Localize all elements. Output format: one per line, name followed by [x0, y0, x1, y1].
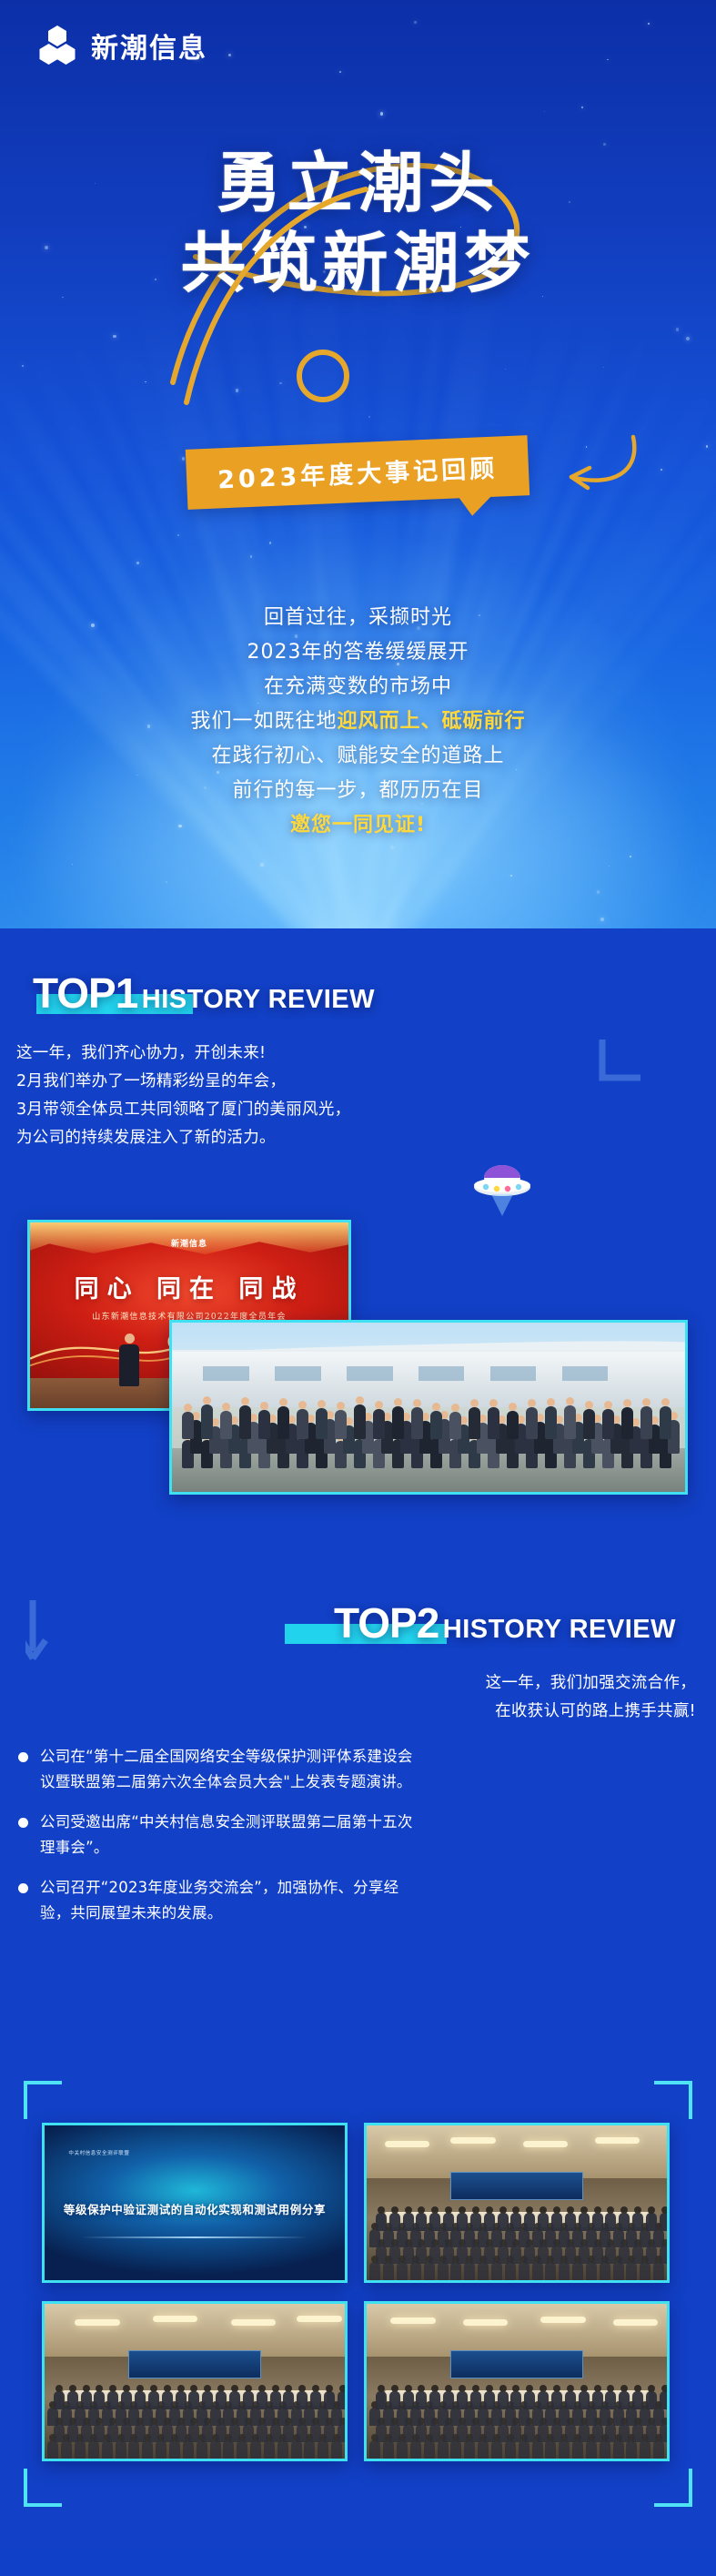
top2-heading: TOP2 HISTORY REVIEW: [334, 1598, 696, 1648]
group-crowd: [172, 1397, 685, 1468]
photo-conference-hall-3[interactable]: [364, 2301, 670, 2461]
hall-seats: [367, 2194, 667, 2280]
top1-para-line-3: 3月带领全体员工共同领略了厦门的美丽风光，: [16, 1096, 444, 1124]
intro-line-6: 前行的每一步，都历历在目: [0, 774, 716, 808]
top1-para-line-1: 这一年，我们齐心协力，开创未来!: [16, 1040, 444, 1068]
slide-title: 等级保护中验证测试的自动化实现和测试用例分享: [45, 2200, 345, 2217]
ufo-icon: [460, 1154, 544, 1218]
bracket-top-left: [24, 2081, 62, 2119]
poster-page: 新潮信息 勇立潮头 共筑新潮梦 2023年度大事记回顾 回首过往，: [0, 0, 716, 2576]
brand-name: 新潮信息: [91, 25, 207, 66]
list-item: 公司召开“2023年度业务交流会”，加强协作、分享经验，共同展望未来的发展。: [16, 1875, 417, 1926]
top1-para-line-2: 2月我们举办了一场精彩纷呈的年会，: [16, 1068, 444, 1096]
brand-logo[interactable]: 新潮信息: [36, 25, 207, 66]
intro-line-4-prefix: 我们一如既往地: [190, 710, 337, 733]
section-top1: TOP1 HISTORY REVIEW 这一年，我们齐心协力，开创未来! 2月我…: [0, 928, 716, 1566]
hall-ceiling: [367, 2125, 667, 2178]
slide-rule: [81, 2236, 309, 2238]
stage-person: [119, 1334, 139, 1386]
arrow-down-left-icon: [25, 1595, 91, 1668]
list-item: 公司受邀出席“中关村信息安全测评联盟第二届第十五次理事会”。: [16, 1810, 417, 1861]
arrow-down-icon: [591, 1030, 655, 1094]
stage-title-text: 同心 同在 同战: [30, 1269, 348, 1304]
hero-headline: 勇立潮头 共筑新潮梦: [0, 144, 716, 304]
intro-line-5: 在践行初心、赋能安全的道路上: [0, 739, 716, 774]
top2-para-line-2: 在收获认可的路上携手共赢!: [268, 1698, 696, 1726]
top1-subtitle: HISTORY REVIEW: [142, 985, 375, 1014]
top2-subtitle: HISTORY REVIEW: [443, 1615, 676, 1644]
intro-line-3: 在充满变数的市场中: [0, 670, 716, 705]
photo-grid-section: 中关村信息安全测评联盟 等级保护中验证测试的自动化实现和测试用例分享: [0, 2075, 716, 2512]
year-badge: 2023年度大事记回顾: [186, 435, 530, 510]
photo-group-xiamen[interactable]: [169, 1320, 688, 1495]
hero-title-line1: 勇立潮头: [216, 145, 499, 221]
hero-section: 新潮信息 勇立潮头 共筑新潮梦 2023年度大事记回顾 回首过往，: [0, 0, 716, 928]
trefoil-logo-icon: [36, 25, 78, 66]
hall-seats: [367, 2372, 667, 2459]
photo-conference-hall-1[interactable]: [364, 2123, 670, 2283]
slide-tag: 中关村信息安全测评联盟: [68, 2149, 129, 2156]
intro-copy: 回首过往，采撷时光 2023年的答卷缓缓展开 在充满变数的市场中 我们一如既往地…: [0, 601, 716, 843]
bracket-bottom-right: [654, 2469, 692, 2507]
intro-line-4-highlight: 迎风而上、砥砺前行: [338, 710, 526, 733]
top2-paragraph: 这一年，我们加强交流合作， 在收获认可的路上携手共赢!: [268, 1669, 696, 1726]
hero-title-line2: 共筑新潮梦: [0, 224, 716, 304]
hall-ceiling: [45, 2304, 345, 2357]
intro-line-1: 回首过往，采撷时光: [0, 601, 716, 635]
stage-logo-text: 新潮信息: [30, 1237, 348, 1249]
section-top2: TOP2 HISTORY REVIEW 这一年，我们加强交流合作， 在收获认可的…: [0, 1566, 716, 2075]
top1-heading: TOP1 HISTORY REVIEW: [16, 969, 375, 1018]
intro-line-4: 我们一如既往地迎风而上、砥砺前行: [0, 705, 716, 739]
hall-ceiling: [367, 2304, 667, 2357]
bracket-bottom-left: [24, 2469, 62, 2507]
top2-para-line-1: 这一年，我们加强交流合作，: [268, 1669, 696, 1698]
top1-para-line-4: 为公司的持续发展注入了新的活力。: [16, 1124, 444, 1152]
intro-line-2: 2023年的答卷缓缓展开: [0, 635, 716, 670]
arrow-curve-icon: [506, 431, 642, 513]
photo-presentation-slide[interactable]: 中关村信息安全测评联盟 等级保护中验证测试的自动化实现和测试用例分享: [42, 2123, 348, 2283]
top2-bullet-list: 公司在“第十二届全国网络安全等级保护测评体系建设会议暨联盟第二届第六次全体会员大…: [16, 1744, 417, 1941]
content-area: TOP1 HISTORY REVIEW 这一年，我们齐心协力，开创未来! 2月我…: [0, 928, 716, 2549]
top2-rank: TOP2: [334, 1599, 439, 1647]
top1-rank: TOP1: [33, 969, 137, 1017]
list-item: 公司在“第十二届全国网络安全等级保护测评体系建设会议暨联盟第二届第六次全体会员大…: [16, 1744, 417, 1795]
top1-paragraph: 这一年，我们齐心协力，开创未来! 2月我们举办了一场精彩纷呈的年会， 3月带领全…: [16, 1040, 444, 1152]
hall-seats: [45, 2372, 345, 2459]
photo-conference-hall-2[interactable]: [42, 2301, 348, 2461]
intro-cta: 邀您一同见证!: [0, 808, 716, 843]
bracket-top-right: [654, 2081, 692, 2119]
